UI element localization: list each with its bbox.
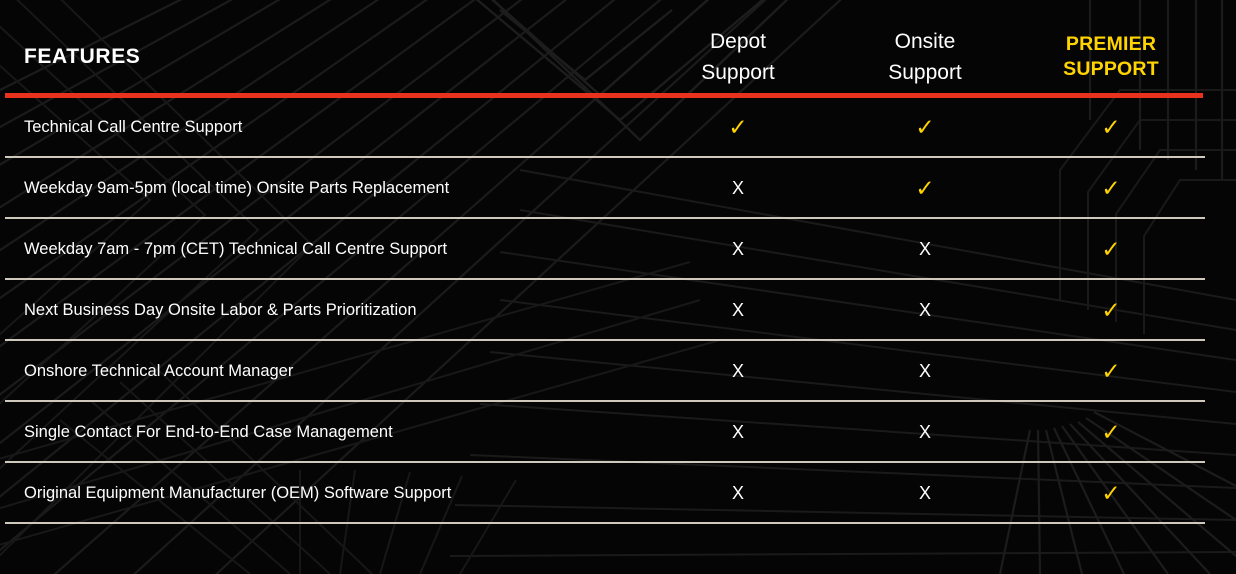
column-header-depot-support: Depot Support — [638, 26, 838, 88]
cross-icon: X — [732, 361, 744, 381]
check-icon: ✓ — [1101, 480, 1120, 506]
cell-depot: X — [678, 463, 798, 524]
cell-depot: X — [678, 341, 798, 402]
feature-label: Weekday 7am - 7pm (CET) Technical Call C… — [24, 219, 447, 280]
cell-onsite: X — [865, 463, 985, 524]
cell-onsite: X — [865, 402, 985, 463]
cross-icon: X — [919, 422, 931, 442]
feature-label: Next Business Day Onsite Labor & Parts P… — [24, 280, 417, 341]
cell-premier: ✓ — [1051, 463, 1171, 524]
check-icon: ✓ — [728, 114, 747, 140]
table-row: Original Equipment Manufacturer (OEM) So… — [0, 463, 1236, 524]
feature-label: Technical Call Centre Support — [24, 97, 242, 158]
feature-label: Original Equipment Manufacturer (OEM) So… — [24, 463, 451, 524]
comparison-table: FEATURES Depot Support Onsite Support PR… — [0, 0, 1236, 574]
cell-depot: X — [678, 280, 798, 341]
cross-icon: X — [919, 239, 931, 259]
check-icon: ✓ — [1101, 114, 1120, 140]
cross-icon: X — [732, 422, 744, 442]
cross-icon: X — [732, 300, 744, 320]
cross-icon: X — [919, 300, 931, 320]
check-icon: ✓ — [1101, 236, 1120, 262]
features-column-title: FEATURES — [24, 46, 140, 67]
cell-premier: ✓ — [1051, 341, 1171, 402]
column-header-onsite-support: Onsite Support — [825, 26, 1025, 88]
column-header-premier-support: PREMIER SUPPORT — [1011, 32, 1211, 82]
cross-icon: X — [919, 483, 931, 503]
feature-label: Single Contact For End-to-End Case Manag… — [24, 402, 393, 463]
cell-premier: ✓ — [1051, 402, 1171, 463]
cell-depot: ✓ — [678, 97, 798, 158]
support-comparison-table-page: FEATURES Depot Support Onsite Support PR… — [0, 0, 1236, 574]
table-row: Weekday 7am - 7pm (CET) Technical Call C… — [0, 219, 1236, 280]
cross-icon: X — [732, 178, 744, 198]
check-icon: ✓ — [1101, 175, 1120, 201]
table-row: Single Contact For End-to-End Case Manag… — [0, 402, 1236, 463]
check-icon: ✓ — [915, 175, 934, 201]
check-icon: ✓ — [1101, 297, 1120, 323]
table-row: Weekday 9am-5pm (local time) Onsite Part… — [0, 158, 1236, 219]
cell-premier: ✓ — [1051, 280, 1171, 341]
check-icon: ✓ — [1101, 419, 1120, 445]
cell-onsite: X — [865, 219, 985, 280]
cell-onsite: ✓ — [865, 97, 985, 158]
table-row: Onshore Technical Account ManagerXX✓ — [0, 341, 1236, 402]
table-row: Technical Call Centre Support✓✓✓ — [0, 97, 1236, 158]
feature-label: Weekday 9am-5pm (local time) Onsite Part… — [24, 158, 449, 219]
check-icon: ✓ — [915, 114, 934, 140]
table-header: FEATURES Depot Support Onsite Support PR… — [0, 0, 1236, 97]
cross-icon: X — [919, 361, 931, 381]
cell-depot: X — [678, 158, 798, 219]
cell-onsite: ✓ — [865, 158, 985, 219]
cell-onsite: X — [865, 341, 985, 402]
cell-onsite: X — [865, 280, 985, 341]
header-accent-rule — [5, 93, 1203, 98]
check-icon: ✓ — [1101, 358, 1120, 384]
cell-premier: ✓ — [1051, 97, 1171, 158]
feature-label: Onshore Technical Account Manager — [24, 341, 293, 402]
cell-premier: ✓ — [1051, 158, 1171, 219]
row-separator — [5, 522, 1205, 524]
cross-icon: X — [732, 239, 744, 259]
cell-depot: X — [678, 402, 798, 463]
table-row: Next Business Day Onsite Labor & Parts P… — [0, 280, 1236, 341]
cross-icon: X — [732, 483, 744, 503]
cell-premier: ✓ — [1051, 219, 1171, 280]
cell-depot: X — [678, 219, 798, 280]
